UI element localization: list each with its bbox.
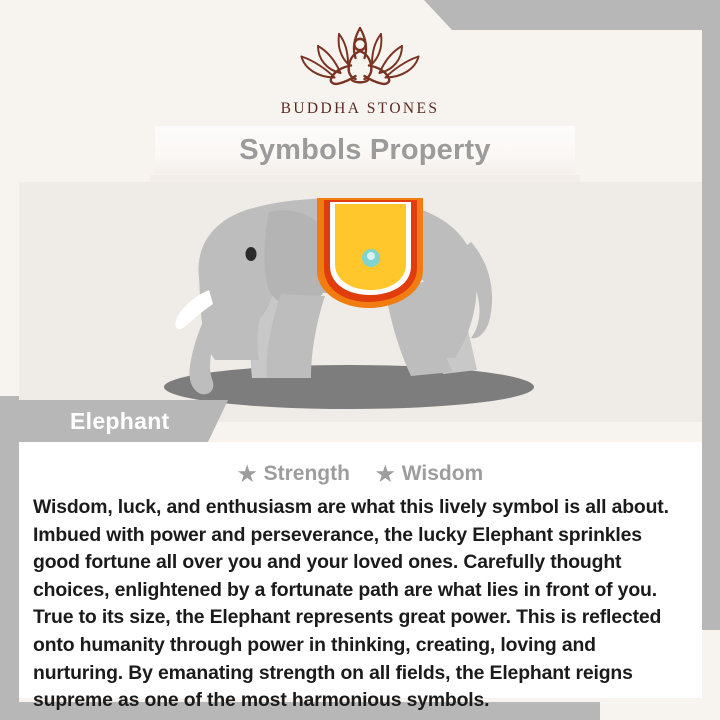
- elephant-saddle: [317, 198, 423, 308]
- brand-logo: BUDDHA STONES: [0, 22, 720, 118]
- lotus-meditation-icon: [284, 22, 436, 94]
- attribute-label-strength: Strength: [264, 462, 350, 486]
- description-panel: ★ Strength ★ Wisdom Wisdom, luck, and en…: [19, 442, 702, 698]
- illustration-panel: [19, 182, 702, 422]
- header-banner: Symbols Property: [155, 126, 575, 174]
- attribute-item-strength: ★ Strength: [238, 462, 350, 486]
- frame-left-strip: [0, 396, 19, 720]
- attribute-list: ★ Strength ★ Wisdom: [19, 462, 702, 486]
- attribute-label-wisdom: Wisdom: [402, 462, 483, 486]
- symbol-name: Elephant: [70, 408, 170, 435]
- page-title: Symbols Property: [239, 134, 490, 167]
- symbol-name-banner: Elephant: [18, 400, 228, 442]
- star-icon: ★: [376, 464, 395, 485]
- elephant-eye: [246, 247, 257, 261]
- poster-root: BUDDHA STONES Symbols Property: [0, 0, 720, 720]
- star-icon: ★: [238, 464, 257, 485]
- frame-right-strip: [702, 30, 720, 630]
- header-underline: [150, 175, 580, 182]
- brand-name: BUDDHA STONES: [281, 100, 440, 118]
- attribute-item-wisdom: ★ Wisdom: [376, 462, 483, 486]
- symbol-description: Wisdom, luck, and enthusiasm are what th…: [33, 494, 690, 715]
